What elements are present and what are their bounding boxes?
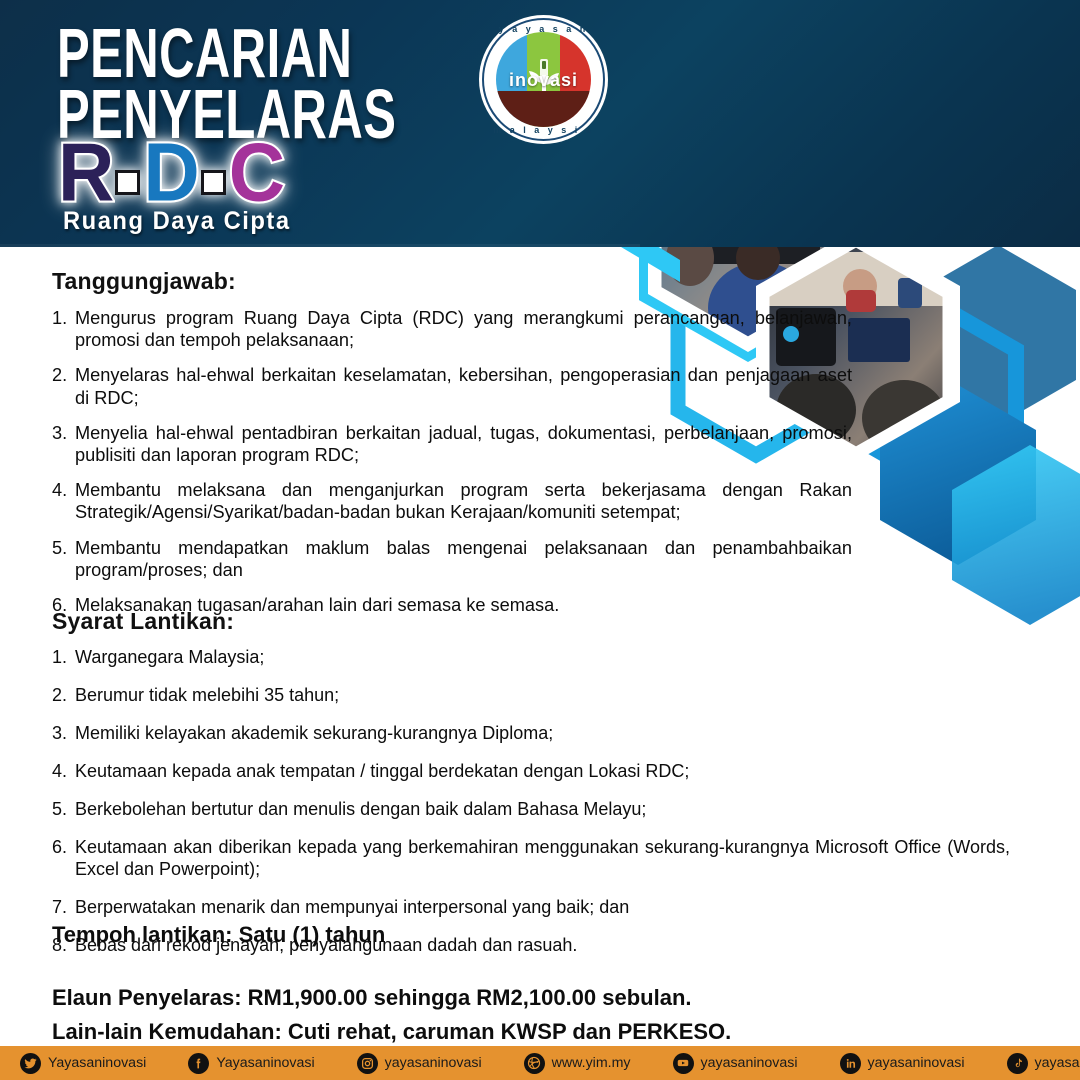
list-number: 1.: [52, 647, 75, 669]
twitter-icon: [20, 1053, 41, 1074]
list-number: 1.: [52, 307, 75, 351]
list-text: Keutamaan kepada anak tempatan / tinggal…: [75, 761, 1010, 783]
social-twitter[interactable]: Yayasaninovasi: [20, 1053, 146, 1074]
rdc-logo: R D C: [58, 142, 283, 203]
list-text: Berumur tidak melebihi 35 tahun;: [75, 685, 1010, 707]
rdc-letter-r: R: [58, 140, 112, 204]
list-item: 1. Warganegara Malaysia;: [52, 647, 1010, 669]
list-item: 5. Membantu mendapatkan maklum balas men…: [52, 537, 852, 581]
instagram-icon: [357, 1053, 378, 1074]
requirements-heading: Syarat Lantikan:: [52, 608, 234, 635]
social-instagram[interactable]: yayasaninovasi: [357, 1053, 482, 1074]
list-text: Berkebolehan bertutur dan menulis dengan…: [75, 799, 1010, 821]
logo-wordmark: inovasi: [496, 69, 591, 90]
social-label: yayasaninovasi: [385, 1055, 482, 1071]
list-item: 3. Memiliki kelayakan akademik sekurang-…: [52, 723, 1010, 745]
list-number: 6.: [52, 837, 75, 881]
list-item: 1. Mengurus program Ruang Daya Cipta (RD…: [52, 307, 852, 351]
rdc-dot-1: [115, 170, 140, 195]
rdc-letter-d: D: [143, 140, 197, 204]
tempoh-lantikan: Tempoh lantikan: Satu (1) tahun: [52, 922, 385, 948]
list-text: Warganegara Malaysia;: [75, 647, 1010, 669]
list-number: 3.: [52, 422, 75, 466]
social-youtube[interactable]: yayasaninovasi: [673, 1053, 798, 1074]
list-number: 2.: [52, 364, 75, 408]
list-number: 4.: [52, 479, 75, 523]
list-number: 2.: [52, 685, 75, 707]
social-label: www.yim.my: [552, 1055, 631, 1071]
list-text: Berperwatakan menarik dan mempunyai inte…: [75, 897, 1010, 919]
list-item: 5. Berkebolehan bertutur dan menulis den…: [52, 799, 1010, 821]
list-item: 2. Berumur tidak melebihi 35 tahun;: [52, 685, 1010, 707]
list-item: 4. Keutamaan kepada anak tempatan / ting…: [52, 761, 1010, 783]
list-text: Membantu melaksana dan menganjurkan prog…: [75, 479, 852, 523]
social-linkedin[interactable]: yayasaninovasi: [840, 1053, 965, 1074]
title-line-2: PENYELARAS: [57, 83, 539, 148]
linkedin-icon: [840, 1053, 861, 1074]
list-item: 7. Berperwatakan menarik dan mempunyai i…: [52, 897, 1010, 919]
logo-soil: [496, 91, 591, 127]
list-item: 4. Membantu melaksana dan menganjurkan p…: [52, 479, 852, 523]
youtube-icon: [673, 1053, 694, 1074]
list-text: Memiliki kelayakan akademik sekurang-kur…: [75, 723, 1010, 745]
responsibilities-heading: Tanggungjawab:: [52, 268, 236, 295]
poster-root: PENCARIAN PENYELARAS R D C Ruang Daya Ci…: [0, 0, 1080, 1080]
header-banner: PENCARIAN PENYELARAS R D C Ruang Daya Ci…: [0, 0, 1080, 247]
list-item: 2. Menyelaras hal-ehwal berkaitan kesela…: [52, 364, 852, 408]
yayasan-inovasi-logo: y a y a s a n m a l a y s i a inovasi: [482, 18, 605, 141]
social-tiktok[interactable]: yayasaninovasi: [1007, 1053, 1080, 1074]
rdc-subtitle: Ruang Daya Cipta: [63, 207, 291, 236]
list-number: 7.: [52, 897, 75, 919]
tiktok-icon: [1007, 1053, 1028, 1074]
lain-lain-kemudahan: Lain-lain Kemudahan: Cuti rehat, caruman…: [52, 1019, 731, 1045]
rdc-dot-2: [201, 170, 226, 195]
social-website[interactable]: www.yim.my: [524, 1053, 631, 1074]
responsibilities-list: 1. Mengurus program Ruang Daya Cipta (RD…: [52, 307, 852, 629]
list-text: Menyelaras hal-ehwal berkaitan keselamat…: [75, 364, 852, 408]
social-label: yayasaninovasi: [868, 1055, 965, 1071]
list-text: Membantu mendapatkan maklum balas mengen…: [75, 537, 852, 581]
logo-emblem: inovasi: [496, 32, 591, 127]
social-label: yayasaninovasi: [1035, 1055, 1080, 1071]
elaun-penyelaras: Elaun Penyelaras: RM1,900.00 sehingga RM…: [52, 985, 692, 1011]
list-item: 3. Menyelia hal-ehwal pentadbiran berkai…: [52, 422, 852, 466]
social-footer-bar: Yayasaninovasi Yayasaninovasi yayasanino…: [0, 1046, 1080, 1080]
social-label: Yayasaninovasi: [48, 1055, 146, 1071]
rdc-letter-c: C: [229, 140, 283, 204]
facebook-icon: [188, 1053, 209, 1074]
social-label: yayasaninovasi: [701, 1055, 798, 1071]
list-number: 3.: [52, 723, 75, 745]
social-facebook[interactable]: Yayasaninovasi: [188, 1053, 314, 1074]
list-text: Menyelia hal-ehwal pentadbiran berkaitan…: [75, 422, 852, 466]
social-label: Yayasaninovasi: [216, 1055, 314, 1071]
list-number: 5.: [52, 799, 75, 821]
list-text: Mengurus program Ruang Daya Cipta (RDC) …: [75, 307, 852, 351]
list-item: 6. Keutamaan akan diberikan kepada yang …: [52, 837, 1010, 881]
website-icon: [524, 1053, 545, 1074]
list-text: Keutamaan akan diberikan kepada yang ber…: [75, 837, 1010, 881]
list-number: 5.: [52, 537, 75, 581]
list-number: 4.: [52, 761, 75, 783]
